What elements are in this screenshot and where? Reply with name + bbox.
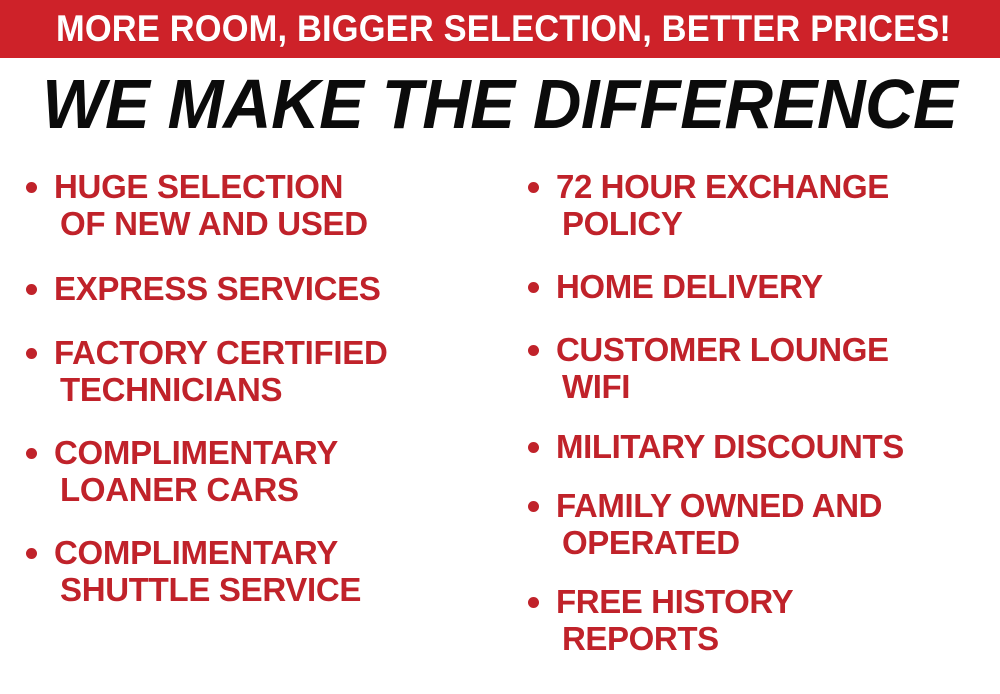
benefit-item-line: REPORTS	[556, 620, 1000, 657]
bullet-dot-icon	[528, 282, 539, 293]
benefit-item-line: WIFI	[556, 368, 1000, 405]
benefit-item: COMPLIMENTARYLOANER CARS	[22, 434, 494, 508]
benefit-item: EXPRESS SERVICES	[22, 270, 494, 307]
bullet-dot-icon	[26, 448, 37, 459]
benefit-item-line: LOANER CARS	[54, 471, 494, 508]
dealership-benefits-poster: MORE ROOM, BIGGER SELECTION, BETTER PRIC…	[0, 0, 1000, 694]
benefit-item-text: FACTORY CERTIFIEDTECHNICIANS	[54, 334, 494, 408]
page-title: WE MAKE THE DIFFERENCE	[0, 68, 1000, 140]
benefits-columns: HUGE SELECTIONOF NEW AND USEDEXPRESS SER…	[0, 152, 1000, 694]
benefit-item-text: COMPLIMENTARYSHUTTLE SERVICE	[54, 534, 494, 608]
benefits-column-right: 72 HOUR EXCHANGEPOLICYHOME DELIVERYCUSTO…	[500, 152, 1000, 657]
benefit-item: FACTORY CERTIFIEDTECHNICIANS	[22, 334, 494, 408]
benefit-item: FAMILY OWNED ANDOPERATED	[524, 487, 1000, 561]
benefits-column-left: HUGE SELECTIONOF NEW AND USEDEXPRESS SER…	[0, 152, 500, 608]
benefit-item-text: CUSTOMER LOUNGEWIFI	[556, 331, 1000, 405]
bullet-dot-icon	[528, 597, 539, 608]
benefit-item-line: COMPLIMENTARY	[54, 534, 494, 571]
benefit-item-text: MILITARY DISCOUNTS	[556, 428, 1000, 465]
benefit-item: MILITARY DISCOUNTS	[524, 428, 1000, 465]
benefit-item-line: CUSTOMER LOUNGE	[556, 331, 1000, 368]
benefit-item-text: EXPRESS SERVICES	[54, 270, 494, 307]
benefit-item-line: FREE HISTORY	[556, 583, 1000, 620]
benefit-item-text: HOME DELIVERY	[556, 268, 1000, 305]
page-title-text: WE MAKE THE DIFFERENCE	[42, 68, 957, 140]
benefit-item-line: FAMILY OWNED AND	[556, 487, 1000, 524]
benefit-item-text: 72 HOUR EXCHANGEPOLICY	[556, 168, 1000, 242]
benefit-item-line: 72 HOUR EXCHANGE	[556, 168, 1000, 205]
bullet-dot-icon	[528, 501, 539, 512]
bullet-dot-icon	[528, 442, 539, 453]
benefit-item-text: FAMILY OWNED ANDOPERATED	[556, 487, 1000, 561]
benefit-item-line: OPERATED	[556, 524, 1000, 561]
benefit-item: COMPLIMENTARYSHUTTLE SERVICE	[22, 534, 494, 608]
benefit-item-text: HUGE SELECTIONOF NEW AND USED	[54, 168, 494, 242]
top-promo-banner-text: MORE ROOM, BIGGER SELECTION, BETTER PRIC…	[56, 10, 951, 47]
bullet-dot-icon	[26, 348, 37, 359]
benefit-item-line: EXPRESS SERVICES	[54, 270, 494, 307]
bullet-dot-icon	[26, 548, 37, 559]
bullet-dot-icon	[26, 284, 37, 295]
benefit-item-line: COMPLIMENTARY	[54, 434, 494, 471]
benefit-item-text: COMPLIMENTARYLOANER CARS	[54, 434, 494, 508]
benefit-item: 72 HOUR EXCHANGEPOLICY	[524, 168, 1000, 242]
benefit-item: HOME DELIVERY	[524, 268, 1000, 305]
benefit-item: FREE HISTORYREPORTS	[524, 583, 1000, 657]
benefit-item-line: HUGE SELECTION	[54, 168, 494, 205]
benefit-item-line: POLICY	[556, 205, 1000, 242]
benefit-item-line: FACTORY CERTIFIED	[54, 334, 494, 371]
benefit-item-line: MILITARY DISCOUNTS	[556, 428, 1000, 465]
benefit-item-line: SHUTTLE SERVICE	[54, 571, 494, 608]
benefit-item: CUSTOMER LOUNGEWIFI	[524, 331, 1000, 405]
benefit-item-line: HOME DELIVERY	[556, 268, 1000, 305]
benefit-item-line: OF NEW AND USED	[54, 205, 494, 242]
bullet-dot-icon	[528, 345, 539, 356]
top-promo-banner: MORE ROOM, BIGGER SELECTION, BETTER PRIC…	[0, 0, 1000, 58]
benefit-item-text: FREE HISTORYREPORTS	[556, 583, 1000, 657]
benefit-item-line: TECHNICIANS	[54, 371, 494, 408]
bullet-dot-icon	[26, 182, 37, 193]
bullet-dot-icon	[528, 182, 539, 193]
benefit-item: HUGE SELECTIONOF NEW AND USED	[22, 168, 494, 242]
